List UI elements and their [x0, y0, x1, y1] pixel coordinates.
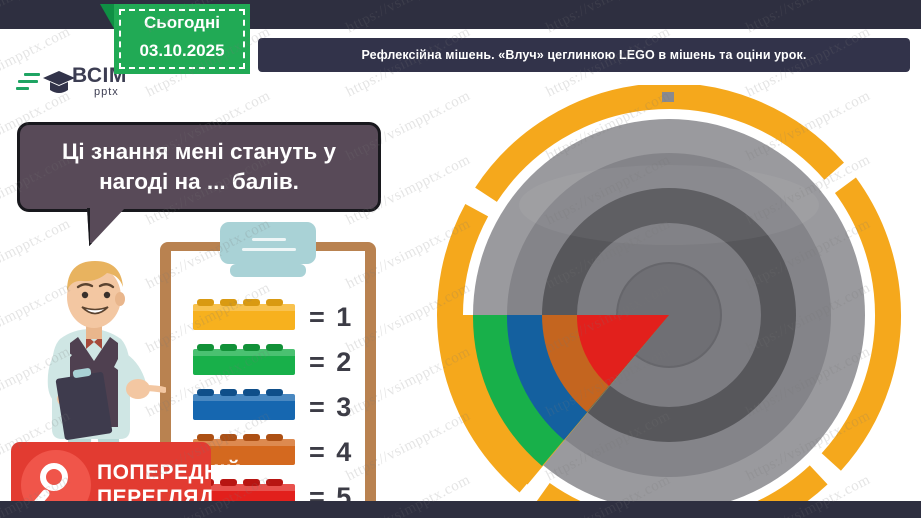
legend-value: = 4 — [309, 437, 353, 468]
reflection-target[interactable] — [434, 85, 904, 501]
board-clip-line — [242, 248, 296, 251]
date-badge-label: Сьогодні — [114, 13, 250, 33]
legend-value: = 3 — [309, 392, 353, 423]
brand-subtitle: pptx — [94, 87, 127, 98]
date-badge-body: Сьогодні 03.10.2025 — [114, 4, 250, 74]
page-title: Рефлексійна мішень. «Влуч» цеглинкою LEG… — [362, 48, 807, 62]
preview-line-2: ПЕРЕГЛЯД — [97, 485, 242, 501]
preview-badge[interactable]: ПОПЕРЕДНІЙ ПЕРЕГЛЯД — [11, 442, 211, 501]
speech-bubble: Ці знання мені стануть у нагоді на ... б… — [17, 122, 381, 212]
date-badge-value: 03.10.2025 — [114, 41, 250, 61]
legend-value: = 2 — [309, 347, 353, 378]
graduation-cap-icon — [42, 69, 76, 100]
slide-canvas: = 1 = 2 = 3 — [0, 29, 921, 501]
board-clip-icon — [220, 222, 316, 264]
target-top-notch — [662, 92, 674, 102]
board-clip-bar — [230, 264, 306, 277]
speech-bubble-text: Ці знання мені стануть у нагоді на ... б… — [20, 137, 378, 197]
speech-bubble-tail — [87, 208, 125, 246]
target-highlight — [519, 165, 819, 245]
speed-lines-icon — [16, 73, 40, 94]
header-title-bar: Рефлексійна мішень. «Влуч» цеглинкою LEG… — [258, 38, 910, 72]
slide-root: = 1 = 2 = 3 — [0, 0, 921, 518]
legend-row[interactable]: = 3 — [193, 389, 369, 425]
legend-row[interactable]: = 1 — [193, 299, 369, 335]
target-svg — [434, 85, 904, 501]
board-clip-line — [252, 238, 286, 241]
preview-line-1: ПОПЕРЕДНІЙ — [97, 460, 242, 485]
date-badge: Сьогодні 03.10.2025 — [114, 2, 250, 76]
preview-badge-text: ПОПЕРЕДНІЙ ПЕРЕГЛЯД — [97, 460, 242, 501]
magnifier-icon — [21, 450, 91, 501]
lego-brick-yellow — [193, 304, 295, 330]
legend-value: = 5 — [309, 482, 353, 502]
legend-value: = 1 — [309, 302, 353, 333]
speech-bubble-box: Ці знання мені стануть у нагоді на ... б… — [17, 122, 381, 212]
legend-row[interactable]: = 2 — [193, 344, 369, 380]
brand-logo[interactable]: ВСІМ pptx — [12, 65, 122, 103]
lego-brick-green — [193, 349, 295, 375]
lego-brick-blue — [193, 394, 295, 420]
